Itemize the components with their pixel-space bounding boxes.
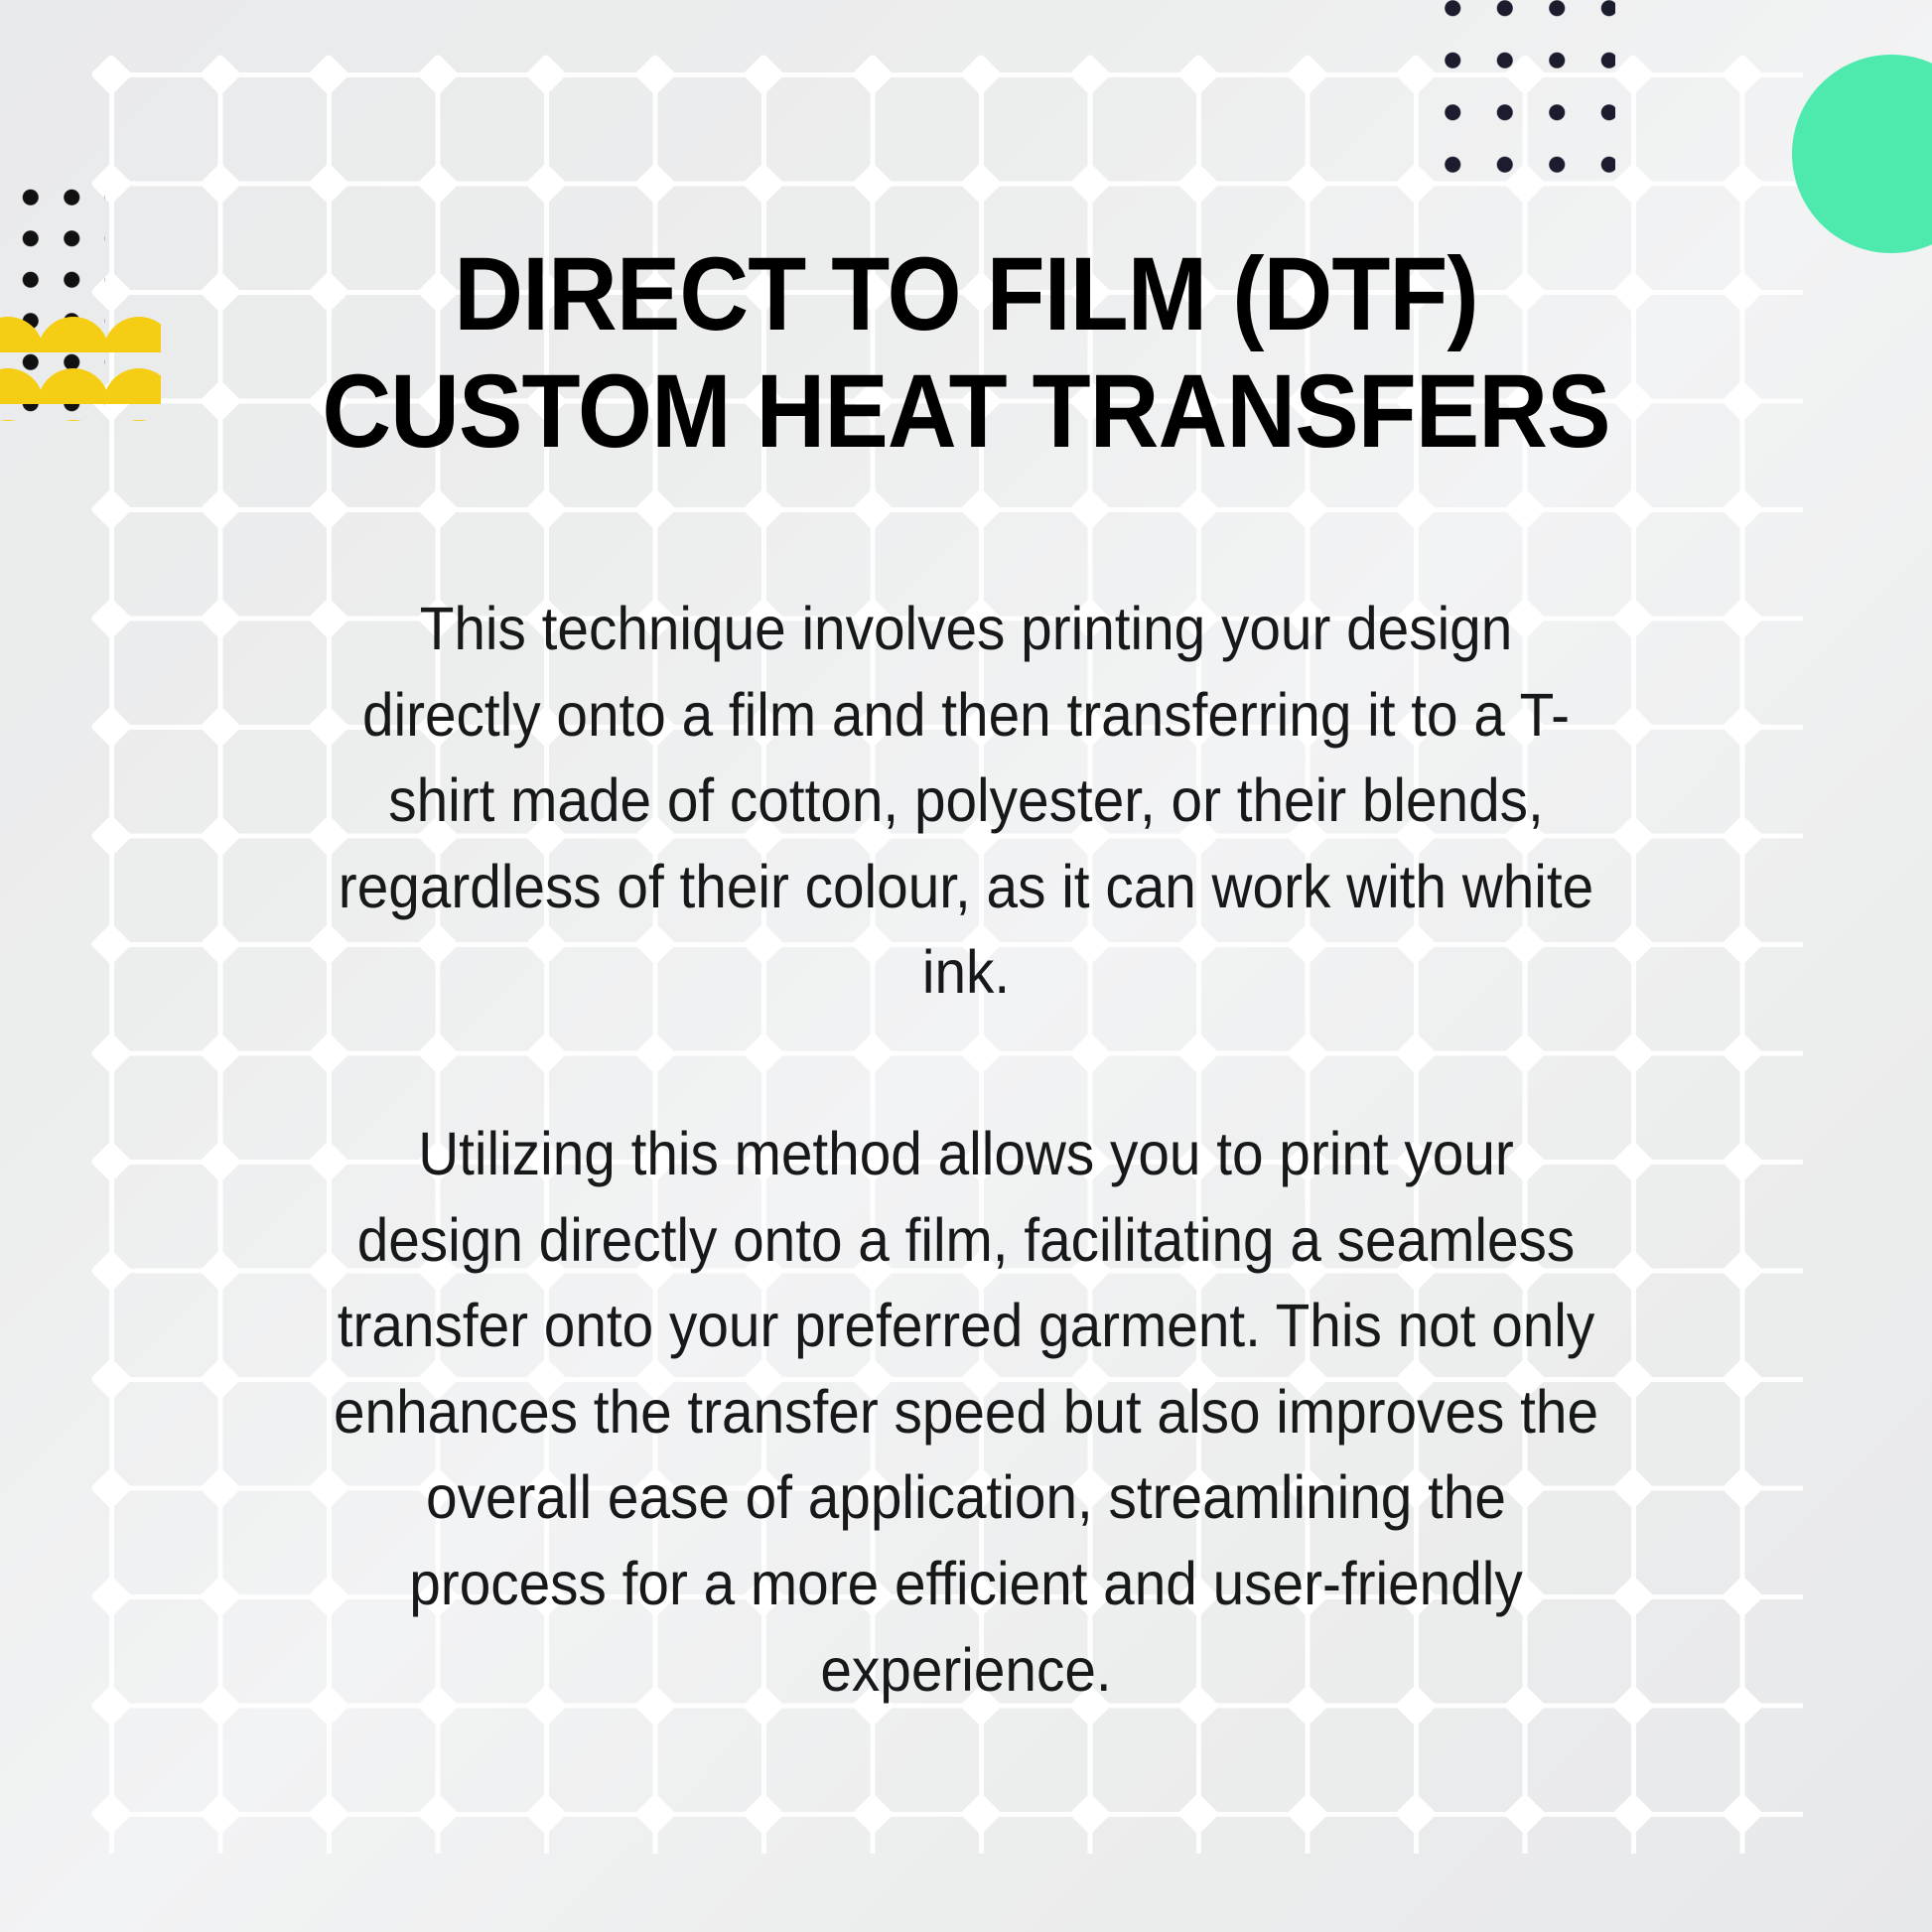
page-title: DIRECT TO FILM (DTF) CUSTOM HEAT TRANSFE… <box>221 236 1711 470</box>
page-title-line-1: DIRECT TO FILM (DTF) <box>281 236 1651 353</box>
paragraph-spacer <box>281 1016 1651 1111</box>
poster-canvas: DIRECT TO FILM (DTF) CUSTOM HEAT TRANSFE… <box>0 0 1932 1932</box>
body-paragraph-1: This technique involves printing your de… <box>329 586 1602 1016</box>
body-paragraph-2: Utilizing this method allows you to prin… <box>329 1111 1602 1713</box>
poster-content: DIRECT TO FILM (DTF) CUSTOM HEAT TRANSFE… <box>0 0 1932 1932</box>
body-copy: This technique involves printing your de… <box>281 586 1651 1713</box>
page-title-line-2: CUSTOM HEAT TRANSFERS <box>281 353 1651 471</box>
